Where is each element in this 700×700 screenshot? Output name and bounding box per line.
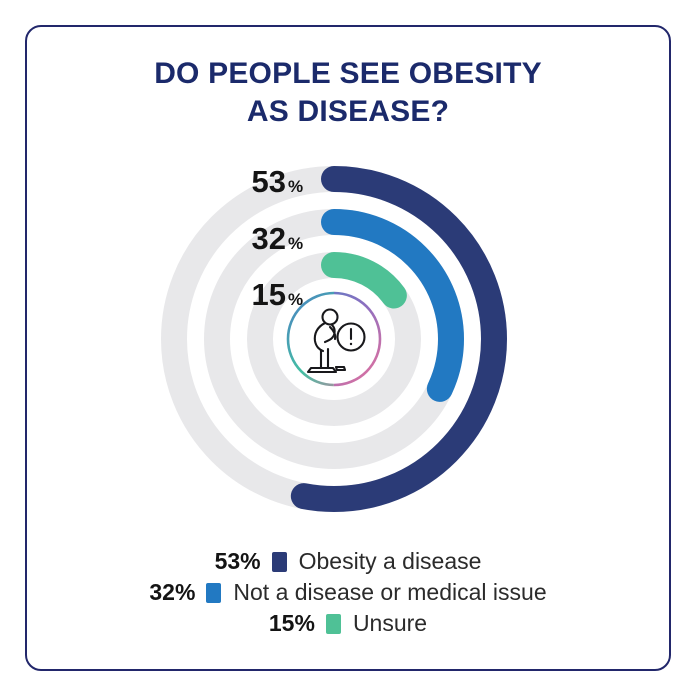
page-title: DO PEOPLE SEE OBESITY AS DISEASE? xyxy=(27,55,669,131)
legend-item-unsure: 15% Unsure xyxy=(27,610,669,637)
legend-label: Not a disease or medical issue xyxy=(233,579,546,606)
ring-value-middle-percent: % xyxy=(288,234,303,253)
ring-value-outer-number: 53 xyxy=(252,164,286,199)
person-legs-icon xyxy=(321,349,328,367)
ring-value-inner-percent: % xyxy=(288,290,303,309)
title-line-1: DO PEOPLE SEE OBESITY xyxy=(27,55,669,93)
legend-swatch-icon xyxy=(272,552,287,572)
legend-percent: 53% xyxy=(215,548,261,575)
radial-bar-chart: 53 % 32 % 15 % xyxy=(27,137,669,537)
chart-svg: 53 % 32 % 15 % xyxy=(138,137,558,537)
legend-item-obesity-a-disease: 53% Obesity a disease xyxy=(27,548,669,575)
ring-value-inner-number: 15 xyxy=(252,277,286,312)
legend-percent: 32% xyxy=(149,579,195,606)
scale-display-icon xyxy=(336,367,345,370)
chart-legend: 53% Obesity a disease 32% Not a disease … xyxy=(27,544,669,641)
legend-percent: 15% xyxy=(269,610,315,637)
person-torso-icon xyxy=(315,323,325,351)
infographic-card: DO PEOPLE SEE OBESITY AS DISEASE? xyxy=(25,25,671,671)
person-on-scale-alert-icon xyxy=(308,310,365,373)
title-line-2: AS DISEASE? xyxy=(27,93,669,131)
ring-value-label-outer: 53 % xyxy=(252,164,304,199)
weighing-scale-icon xyxy=(308,368,336,372)
ring-value-outer-percent: % xyxy=(288,177,303,196)
legend-swatch-icon xyxy=(326,614,341,634)
ring-value-middle-number: 32 xyxy=(252,221,286,256)
legend-item-not-a-disease: 32% Not a disease or medical issue xyxy=(27,579,669,606)
legend-label: Obesity a disease xyxy=(299,548,482,575)
alert-dot-icon xyxy=(350,343,352,345)
legend-label: Unsure xyxy=(353,610,427,637)
legend-swatch-icon xyxy=(206,583,221,603)
